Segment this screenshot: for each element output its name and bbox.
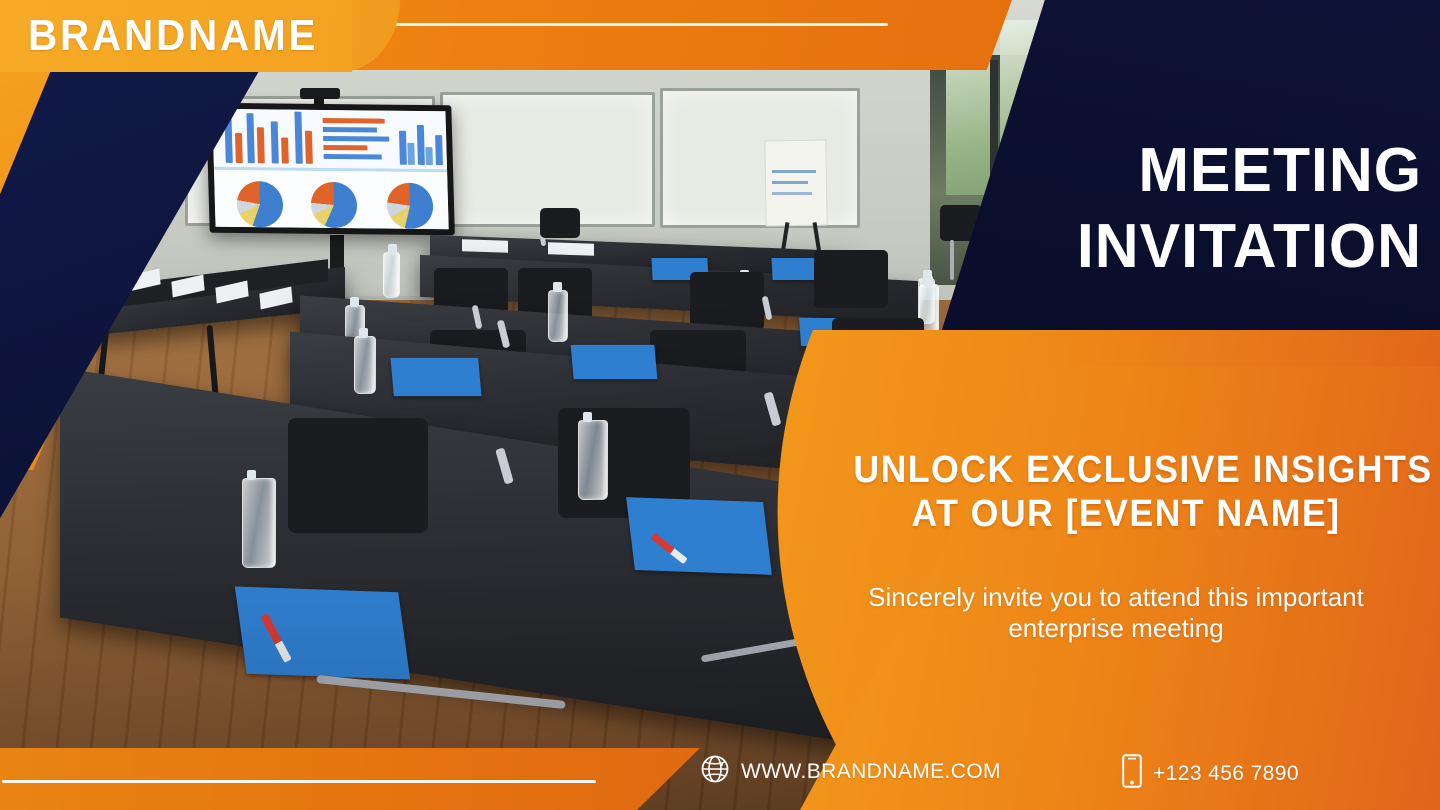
poster-headline: UNLOCK EXCLUSIVE INSIGHTS AT OUR [EVENT …: [836, 448, 1416, 536]
top-bar-rule: [388, 23, 888, 26]
globe-icon: [700, 754, 730, 789]
footer-phone-label: +123 456 7890: [1153, 762, 1299, 786]
footer-website-label: WWW.BRANDNAME.COM: [741, 760, 1001, 784]
headline-line-2: AT OUR [EVENT NAME]: [853, 492, 1398, 536]
footer-contacts: WWW.BRANDNAME.COM +123 456 7890: [690, 748, 1440, 796]
brand-name: BRANDNAME: [28, 8, 318, 64]
footer-website[interactable]: WWW.BRANDNAME.COM: [700, 754, 1001, 789]
bottom-orange-bar: [0, 748, 700, 810]
meeting-invitation-poster: BRANDNAME MEETING INVITATION UNLOCK EXCL…: [0, 0, 1440, 810]
headline-line-1: UNLOCK EXCLUSIVE INSIGHTS: [853, 448, 1398, 492]
poster-title: MEETING INVITATION: [1002, 140, 1422, 278]
mobile-phone-icon: [1122, 754, 1142, 793]
poster-title-line-2: INVITATION: [1010, 216, 1422, 278]
poster-body-text: Sincerely invite you to attend this impo…: [816, 582, 1416, 644]
footer-phone[interactable]: +123 456 7890: [1122, 754, 1299, 793]
bottom-bar-rule: [2, 780, 596, 783]
poster-title-line-1: MEETING: [1010, 140, 1422, 202]
